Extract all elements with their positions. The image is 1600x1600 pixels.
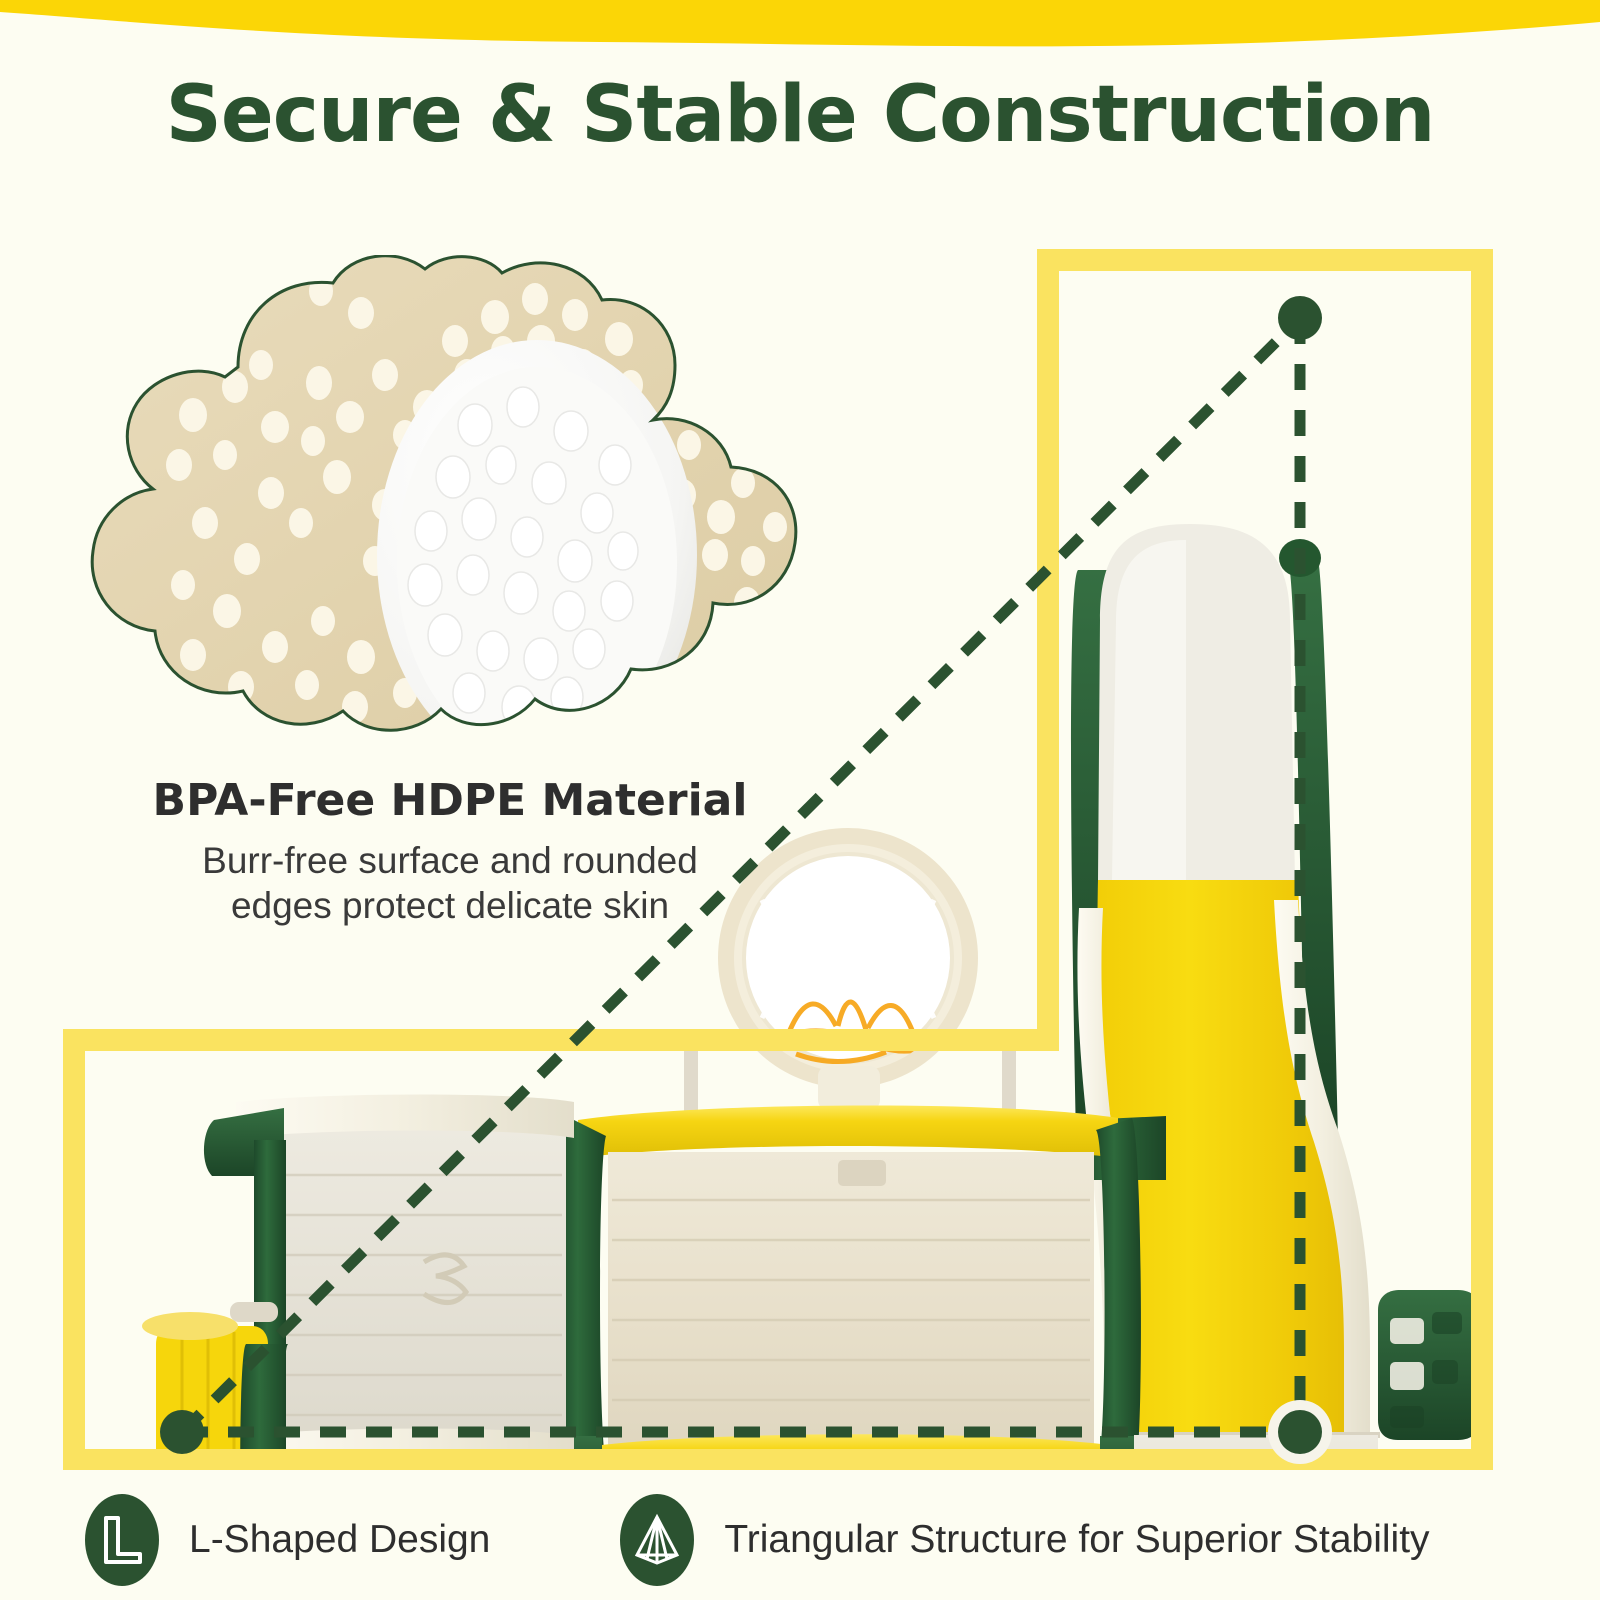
top-band-shape (0, 0, 1600, 46)
feature-label: Triangular Structure for Superior Stabil… (724, 1518, 1429, 1562)
cream-wall-panel (608, 1152, 1094, 1460)
left-play-section (142, 1095, 574, 1461)
l-shape-icon (85, 1494, 159, 1586)
pyramid-triangle-icon (620, 1494, 694, 1586)
l-shape-glyph (100, 1514, 144, 1566)
platform-top-rail (578, 1105, 1118, 1158)
left-bottom-rail (236, 1429, 574, 1461)
green-corner-post (240, 1344, 288, 1460)
climber-cap-top (142, 1312, 238, 1340)
top-yellow-band (0, 0, 1600, 70)
climber-rod (230, 1302, 278, 1322)
panel-latch (838, 1160, 886, 1186)
slide-base-panel (1134, 1435, 1378, 1460)
post-cap (1279, 539, 1321, 577)
pyramid-glyph (633, 1513, 681, 1567)
feature-bar: L-Shaped Design Triangular Structure for… (0, 1480, 1600, 1600)
feature-triangular-structure: Triangular Structure for Superior Stabil… (620, 1494, 1429, 1586)
page-title: Secure & Stable Construction (0, 70, 1600, 160)
basketball-hoop (726, 836, 970, 1110)
feature-label: L-Shaped Design (189, 1518, 490, 1562)
green-side-panel (1378, 1290, 1480, 1440)
center-play-section (542, 836, 1155, 1460)
l-shaped-kids-slide-playset (0, 240, 1600, 1460)
slide-backboard-highlight (1112, 540, 1186, 880)
feature-l-shaped-design: L-Shaped Design (85, 1494, 490, 1586)
